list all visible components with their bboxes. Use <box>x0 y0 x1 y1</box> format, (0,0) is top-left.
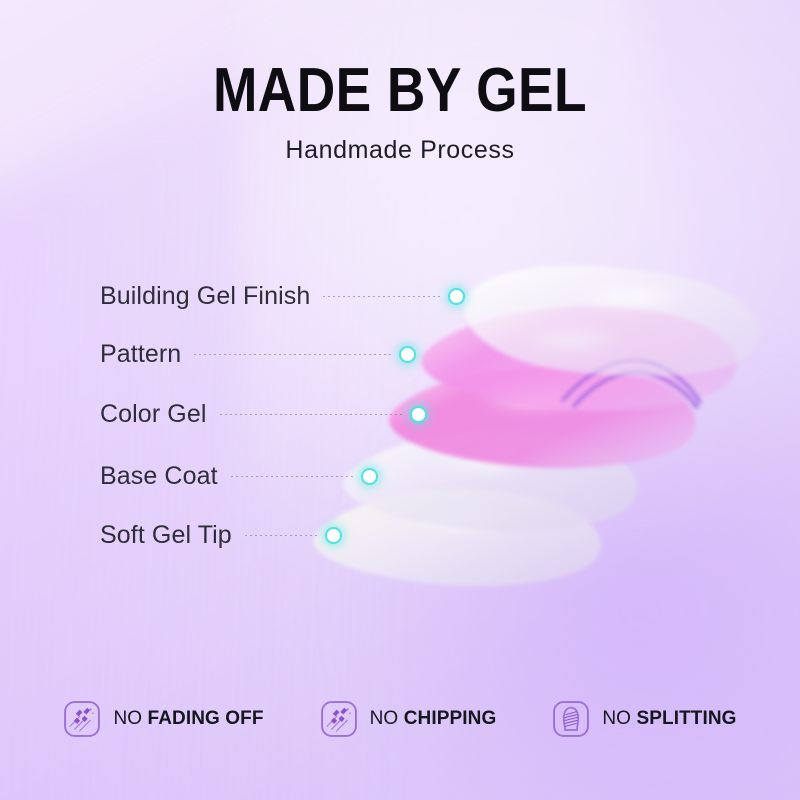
feature-label-no-splitting: NO SPLITTING <box>602 708 736 730</box>
layer-callout-building-gel-finish[interactable]: Building Gel Finish <box>100 279 465 313</box>
feature-prefix: NO <box>602 708 636 729</box>
feature-prefix: NO <box>113 708 147 729</box>
leader-line-building-gel-finish <box>323 296 443 297</box>
layer-callout-pattern[interactable]: Pattern <box>100 337 416 371</box>
feature-no-chipping[interactable]: NO CHIPPING <box>320 700 497 738</box>
feature-emphasis: SPLITTING <box>636 708 736 729</box>
feature-no-fading-off[interactable]: NO FADING OFF <box>63 700 263 738</box>
feature-no-splitting[interactable]: NO SPLITTING <box>552 700 736 738</box>
leader-line-base-coat <box>231 476 356 477</box>
feature-label-no-fading-off: NO FADING OFF <box>113 708 263 730</box>
feature-emphasis: CHIPPING <box>404 708 497 729</box>
layer-label-building-gel-finish: Building Gel Finish <box>100 282 310 311</box>
layer-label-pattern: Pattern <box>100 340 181 369</box>
poster-canvas: MADE BY GEL Handmade Process <box>0 0 800 800</box>
layer-callout-color-gel[interactable]: Color Gel <box>100 397 427 431</box>
layer-callout-soft-gel-tip[interactable]: Soft Gel Tip <box>100 518 342 552</box>
leader-dot-soft-gel-tip <box>325 527 342 544</box>
leader-line-color-gel <box>220 414 405 415</box>
feature-prefix: NO <box>370 708 404 729</box>
feature-emphasis: FADING OFF <box>148 708 264 729</box>
layer-callout-list: Building Gel Finish Pattern Color Gel Ba… <box>0 0 800 800</box>
leader-dot-base-coat <box>361 468 378 485</box>
leader-line-pattern <box>194 354 394 355</box>
layer-label-color-gel: Color Gel <box>100 400 207 429</box>
layer-label-soft-gel-tip: Soft Gel Tip <box>100 521 232 550</box>
leader-dot-building-gel-finish <box>448 288 465 305</box>
leader-dot-color-gel <box>410 406 427 423</box>
nail-brush-strokes-icon <box>63 700 101 738</box>
layer-label-base-coat: Base Coat <box>100 462 218 491</box>
leader-line-soft-gel-tip <box>245 535 320 536</box>
feature-label-no-chipping: NO CHIPPING <box>370 708 497 730</box>
leader-dot-pattern <box>399 346 416 363</box>
nail-fingertip-icon <box>552 700 590 738</box>
layer-callout-base-coat[interactable]: Base Coat <box>100 459 378 493</box>
feature-badge-row: NO FADING OFF <box>0 700 800 738</box>
nail-brush-strokes-icon <box>320 700 358 738</box>
